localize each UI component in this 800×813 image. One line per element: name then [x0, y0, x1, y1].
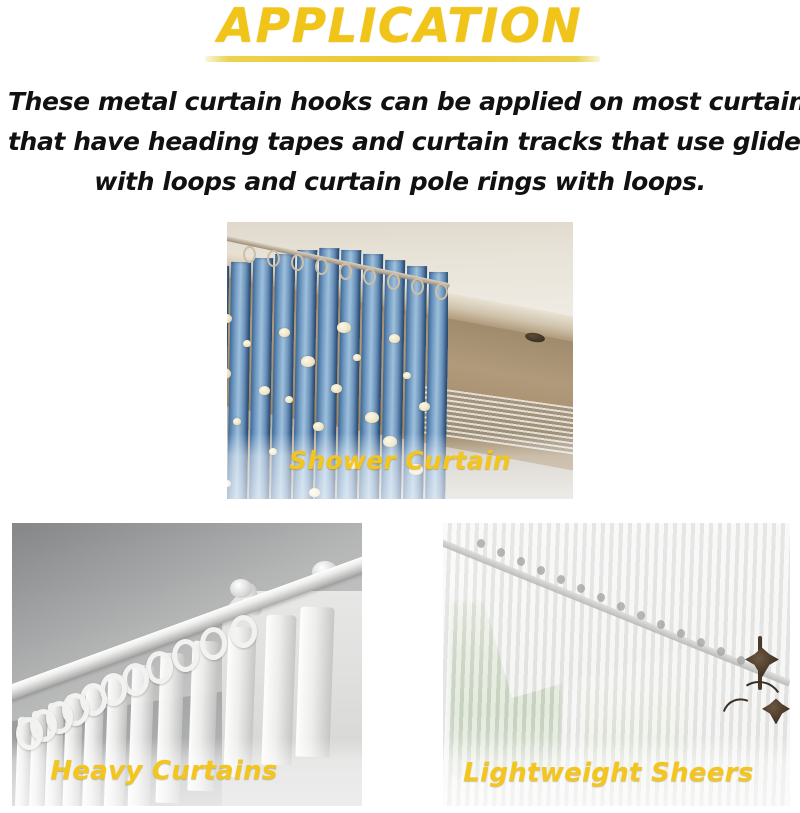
curtain-ring	[200, 627, 227, 660]
track-glider	[737, 656, 745, 665]
track-glider	[637, 611, 645, 620]
track-glider	[697, 638, 705, 647]
curtain-hook-ring	[339, 263, 352, 280]
scene-heavy-curtains: Heavy Curtains	[12, 523, 362, 806]
curtain-ring	[230, 615, 257, 648]
curtain-ring	[146, 651, 173, 684]
curtain-ring	[16, 717, 43, 750]
track-glider	[597, 593, 605, 602]
track-glider	[557, 575, 565, 584]
description-paragraph: These metal curtain hooks can be applied…	[8, 82, 792, 202]
curtain-hook-ring	[291, 254, 304, 271]
description-line-1: These metal curtain hooks can be applied…	[8, 82, 792, 122]
photo-caption-shower-curtain: Shower Curtain	[227, 446, 573, 475]
track-glider	[717, 647, 725, 656]
curtain-hook-ring	[411, 278, 424, 295]
scene-shower-curtain: Shower Curtain	[227, 222, 573, 499]
photo-heavy-curtains: Heavy Curtains	[12, 523, 362, 806]
photo-caption-heavy-curtains: Heavy Curtains	[12, 756, 362, 786]
header-section: APPLICATION These metal curtain hooks ca…	[0, 0, 800, 205]
scene-lightweight-sheers: Lightweight Sheers	[443, 523, 790, 806]
description-line-3: with loops and curtain pole rings with l…	[8, 162, 792, 202]
photo-caption-lightweight-sheers: Lightweight Sheers	[443, 758, 790, 788]
photo-shower-curtain: Shower Curtain	[227, 222, 573, 499]
curtain-hook-ring	[267, 250, 280, 267]
rod-bracket-ball	[230, 579, 252, 598]
description-line-2: that have heading tapes and curtain trac…	[8, 122, 792, 162]
curtain-ring	[172, 639, 199, 672]
curtain-hook-ring	[315, 258, 328, 275]
curtain-hook-ring	[435, 283, 448, 300]
track-glider	[577, 584, 585, 593]
curtain-hook-ring	[387, 273, 400, 290]
track-glider	[657, 620, 665, 629]
track-glider	[497, 548, 505, 557]
track-glider	[537, 566, 545, 575]
track-glider	[677, 629, 685, 638]
curtain-hook-ring	[363, 268, 376, 285]
curtain-hook-ring	[243, 246, 256, 263]
page-title: APPLICATION	[0, 2, 800, 52]
photo-lightweight-sheers: Lightweight Sheers	[443, 523, 790, 806]
track-glider	[617, 602, 625, 611]
track-glider	[517, 557, 525, 566]
title-underline-rule	[205, 56, 600, 62]
track-glider	[477, 539, 485, 548]
